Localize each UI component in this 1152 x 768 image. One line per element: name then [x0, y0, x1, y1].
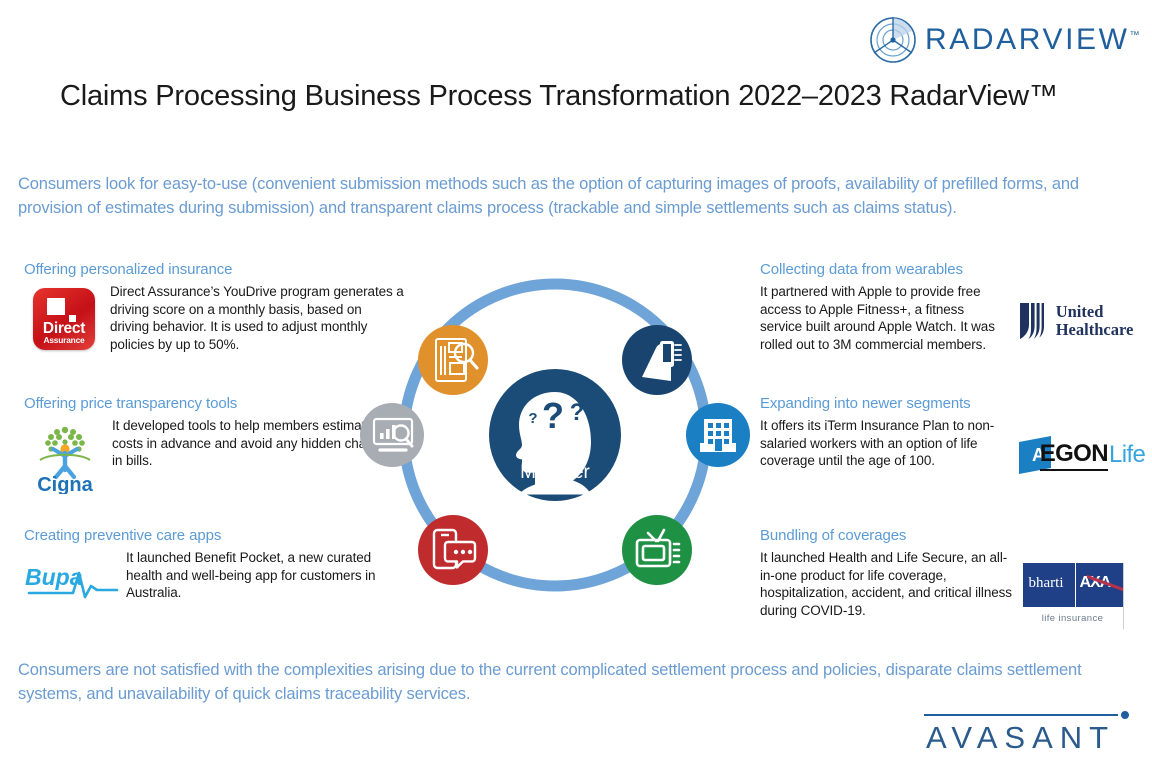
card-bundling-coverages: Bundling of coverages It launched Health…	[760, 526, 1152, 631]
radarview-logo: RADARVIEW™	[868, 14, 1140, 66]
card-personalized-insurance: Offering personalized insurance Direct A…	[24, 260, 404, 355]
logo-divider	[1075, 563, 1077, 607]
card-heading: Collecting data from wearables	[760, 260, 1152, 279]
page-title: Claims Processing Business Process Trans…	[60, 78, 1100, 115]
logo-text-secondary: Assurance	[33, 335, 95, 345]
bharti-axa-logo: bharti AXA life insurance	[1020, 561, 1126, 631]
logo-text-tertiary: life insurance	[1023, 607, 1123, 624]
svg-text:?: ?	[542, 395, 564, 436]
card-wearables-data: Collecting data from wearables It partne…	[760, 260, 1152, 353]
logo-square-large	[47, 298, 65, 315]
cigna-logo: Cigna	[24, 417, 106, 495]
member-wheel-diagram: ? ? ? Member	[356, 253, 754, 617]
aegon-life-logo: A EGON Life	[1012, 431, 1150, 479]
card-heading: Expanding into newer segments	[760, 394, 1152, 413]
node-right	[686, 403, 750, 467]
svg-text:Cigna: Cigna	[37, 474, 93, 494]
node-bottom-left	[418, 515, 488, 585]
card-heading: Creating preventive care apps	[24, 526, 404, 545]
node-top-left	[418, 325, 488, 395]
slide-canvas: RADARVIEW™ Claims Processing Business Pr…	[0, 0, 1152, 768]
logo-text-primary: bharti	[1029, 575, 1064, 592]
trademark-symbol: ™	[1130, 30, 1140, 41]
node-bottom-right	[622, 515, 692, 585]
card-body: It launched Health and Life Secure, an a…	[760, 549, 1012, 619]
logo-text-secondary: Life	[1109, 441, 1145, 469]
intro-paragraph: Consumers look for easy-to-use (convenie…	[18, 172, 1140, 220]
svg-text:?: ?	[528, 410, 537, 427]
card-heading: Offering personalized insurance	[24, 260, 404, 279]
bupa-logo: Bupa	[24, 555, 122, 605]
node-top-right	[622, 325, 692, 395]
svg-text:AVASANT: AVASANT	[926, 720, 1115, 755]
radar-dial-icon	[868, 15, 918, 65]
logo-text-secondary: Healthcare	[1056, 321, 1134, 339]
logo-text-primary: United	[1056, 303, 1134, 321]
logo-slash-accent	[1087, 563, 1123, 607]
direct-assurance-logo: Direct Assurance	[24, 283, 104, 355]
card-heading: Offering price transparency tools	[24, 394, 404, 413]
card-body: It partnered with Apple to provide free …	[760, 283, 1000, 353]
card-price-transparency: Offering price transparency tools	[24, 394, 404, 495]
radarview-wordmark: RADARVIEW™	[925, 23, 1140, 57]
outro-paragraph: Consumers are not satisfied with the com…	[18, 658, 1140, 706]
card-heading: Bundling of coverages	[760, 526, 1152, 545]
avasant-logo: AVASANT	[920, 706, 1140, 760]
card-body: It offers its iTerm Insurance Plan to no…	[760, 417, 1008, 470]
unitedhealthcare-logo: United Healthcare	[1008, 297, 1144, 345]
hub-label: Member	[520, 462, 590, 483]
wheel-hub: ? ? ? Member	[489, 369, 621, 501]
card-preventive-care-apps: Creating preventive care apps Bupa It la…	[24, 526, 404, 605]
card-newer-segments: Expanding into newer segments It offers …	[760, 394, 1152, 479]
svg-text:?: ?	[570, 399, 585, 426]
node-left	[360, 403, 424, 467]
uhc-shield-icon	[1019, 301, 1049, 341]
logo-text-primary: EGON	[1040, 440, 1108, 471]
